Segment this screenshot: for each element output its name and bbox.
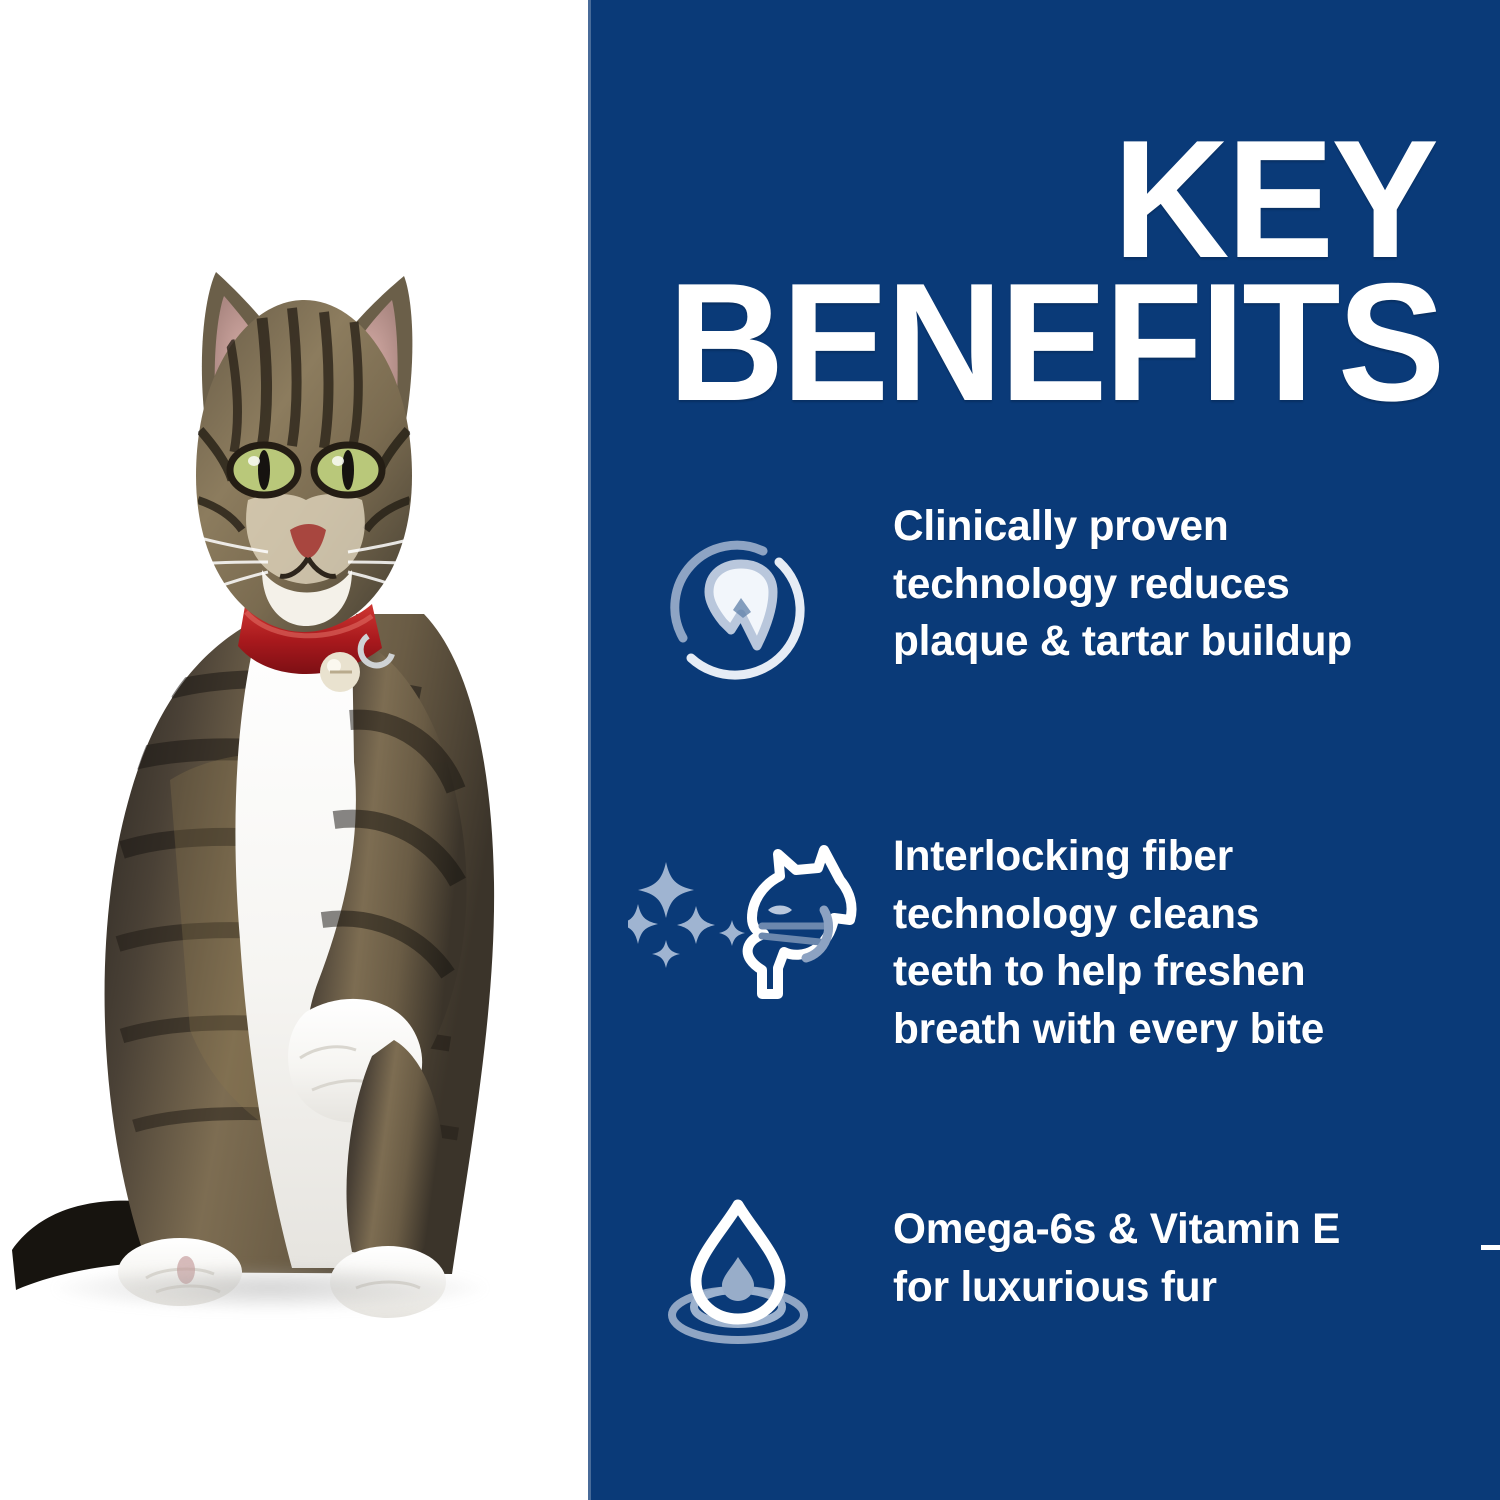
benefit-line: for luxurious fur <box>893 1259 1471 1317</box>
benefit-line: Clinically proven <box>893 498 1471 556</box>
benefit-item-dental: Clinically proven technology reduces pla… <box>588 498 1500 694</box>
benefit-item-coat-health: Omega-6s & Vitamin E for luxurious fur <box>588 1183 1500 1351</box>
page-title: KEY BENEFITS <box>668 128 1436 414</box>
benefit-line: plaque & tartar buildup <box>893 613 1471 671</box>
tooth-in-circle-icon <box>653 518 829 694</box>
benefit-text-fresh-breath: Interlocking fiber technology cleans tee… <box>893 828 1491 1058</box>
benefit-line: Omega-6s & Vitamin E <box>893 1201 1471 1259</box>
benefit-item-fresh-breath: Interlocking fiber technology cleans tee… <box>588 828 1500 1058</box>
cat-head-sparkle-icon <box>628 844 858 1004</box>
benefit-text-coat-health: Omega-6s & Vitamin E for luxurious fur <box>893 1183 1491 1316</box>
key-benefits-panel: KEY BENEFITS Clini <box>0 0 1500 1500</box>
benefit-icon-cell <box>588 1183 893 1351</box>
benefit-line: breath with every bite <box>893 1001 1471 1059</box>
water-droplet-ripple-icon <box>656 1191 826 1351</box>
benefit-text-dental: Clinically proven technology reduces pla… <box>893 498 1491 671</box>
cat-photo <box>0 0 588 1500</box>
benefit-line: Interlocking fiber <box>893 828 1471 886</box>
benefit-icon-cell <box>588 828 893 1004</box>
benefits-panel: KEY BENEFITS Clini <box>588 0 1500 1500</box>
page-title-line2: BENEFITS <box>668 271 1436 414</box>
cat-photo-panel <box>0 0 588 1500</box>
benefit-line: technology reduces <box>893 556 1471 614</box>
benefit-line: teeth to help freshen <box>893 943 1471 1001</box>
benefit-icon-cell <box>588 498 893 694</box>
benefit-line: technology cleans <box>893 886 1471 944</box>
cat-ground-shadow <box>55 1265 485 1311</box>
